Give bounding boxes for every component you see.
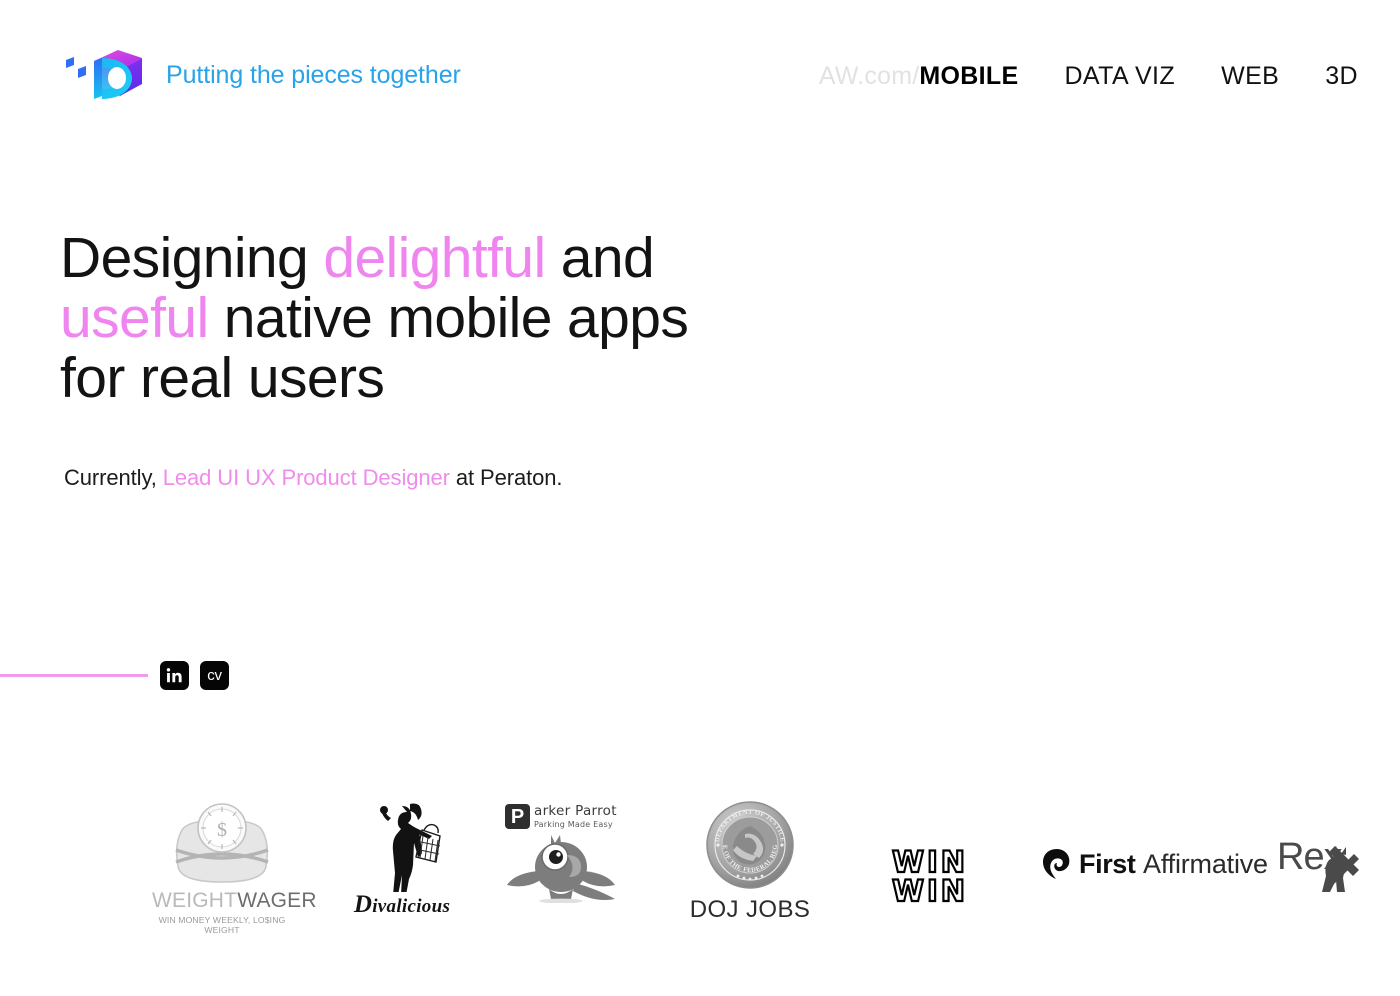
linkedin-icon — [166, 667, 183, 684]
hero-section: Designing delightful and useful native m… — [60, 228, 760, 408]
nautilus-swirl-icon — [1042, 848, 1072, 880]
site-header: Putting the pieces together AW.com/ MOBI… — [0, 0, 1400, 150]
subtitle-suffix: at Peraton. — [450, 465, 563, 490]
dog-silhouette-x-icon — [1277, 832, 1367, 894]
parrot-illustration-icon — [505, 831, 631, 903]
weightwager-title-part1: WEIGHT — [152, 889, 237, 912]
subtitle-role: Lead UI UX Product Designer — [163, 465, 450, 490]
cv-badge[interactable]: cv — [200, 661, 229, 690]
headline-part-4: for real users — [60, 346, 384, 410]
bathroom-scale-icon: $ — [152, 802, 292, 890]
divalicious-name-rest: ivalicious — [372, 896, 450, 917]
social-links-row: cv — [0, 655, 400, 695]
shopping-diva-silhouette-icon — [352, 800, 452, 892]
svg-text:$: $ — [217, 819, 227, 841]
social-icon-group: cv — [160, 661, 229, 690]
headline-accent-delightful: delightful — [323, 226, 545, 290]
linkedin-badge[interactable] — [160, 661, 189, 690]
accent-rule-divider — [0, 674, 148, 677]
brand-block[interactable]: Putting the pieces together — [58, 42, 461, 108]
nav-site-prefix: AW.com/ — [819, 62, 920, 91]
headline-part-1: Designing — [60, 226, 323, 290]
headline-accent-useful: useful — [60, 286, 209, 350]
win-win-wordmark: WIN WIN — [855, 848, 1005, 906]
nav-item-mobile-label: MOBILE — [919, 62, 1018, 91]
logo-win-win[interactable]: WIN WIN — [855, 848, 1005, 906]
client-logos-row: $ WEIGHTWAGER WIN MONEY WEEKLY, LO$ING W… — [0, 790, 1400, 960]
parker-parrot-title: arker Parrot — [534, 804, 617, 818]
logo-weightwager[interactable]: $ WEIGHTWAGER WIN MONEY WEEKLY, LO$ING W… — [152, 802, 292, 935]
folded-d-cube-logo-icon — [58, 42, 154, 108]
first-affirmative-wordmark: First Affirmative — [1079, 851, 1268, 878]
doj-jobs-caption: DOJ JOBS — [680, 896, 820, 924]
nav-item-3d[interactable]: 3D — [1325, 62, 1358, 91]
page-title: Designing delightful and useful native m… — [60, 228, 760, 408]
headline-part-3: native mobile apps — [209, 286, 689, 350]
parker-parrot-wordmark: P arker Parrot Parking Made Easy — [505, 804, 635, 829]
doj-seal-icon: DEPARTMENT OF JUSTICE OFFICE OF THE FEDE… — [705, 800, 795, 890]
weightwager-title: WEIGHTWAGER — [152, 890, 292, 911]
nav-item-data-viz[interactable]: DATA VIZ — [1064, 62, 1175, 91]
main-nav: AW.com/ MOBILE DATA VIZ WEB 3D — [819, 62, 1358, 91]
logo-divalicious[interactable]: Divalicious — [352, 800, 452, 917]
weightwager-tagline: WIN MONEY WEEKLY, LO$ING WEIGHT — [152, 915, 292, 935]
first-affirmative-regular: Affirmative — [1143, 849, 1268, 879]
weightwager-title-part2: WAGER — [237, 889, 317, 912]
logo-first-affirmative[interactable]: First Affirmative — [1042, 848, 1268, 880]
divalicious-name: Divalicious — [352, 892, 452, 917]
nav-item-mobile[interactable]: AW.com/ MOBILE — [819, 62, 1019, 91]
parker-parrot-tagline: Parking Made Easy — [534, 820, 617, 829]
nav-item-web[interactable]: WEB — [1221, 62, 1279, 91]
brand-tagline: Putting the pieces together — [166, 61, 461, 90]
subtitle-prefix: Currently, — [64, 465, 163, 490]
headline-part-2: and — [546, 226, 655, 290]
hero-subtitle: Currently, Lead UI UX Product Designer a… — [64, 465, 562, 491]
cv-badge-label: cv — [207, 668, 221, 683]
logo-parker-parrot[interactable]: P arker Parrot Parking Made Easy — [505, 804, 635, 903]
logo-rex[interactable]: Rex — [1277, 832, 1367, 894]
logo-doj-jobs[interactable]: DEPARTMENT OF JUSTICE OFFICE OF THE FEDE… — [680, 800, 820, 924]
divalicious-name-cap: D — [354, 891, 372, 918]
first-affirmative-bold: First — [1079, 849, 1136, 879]
parker-parrot-p-badge: P — [505, 804, 530, 829]
